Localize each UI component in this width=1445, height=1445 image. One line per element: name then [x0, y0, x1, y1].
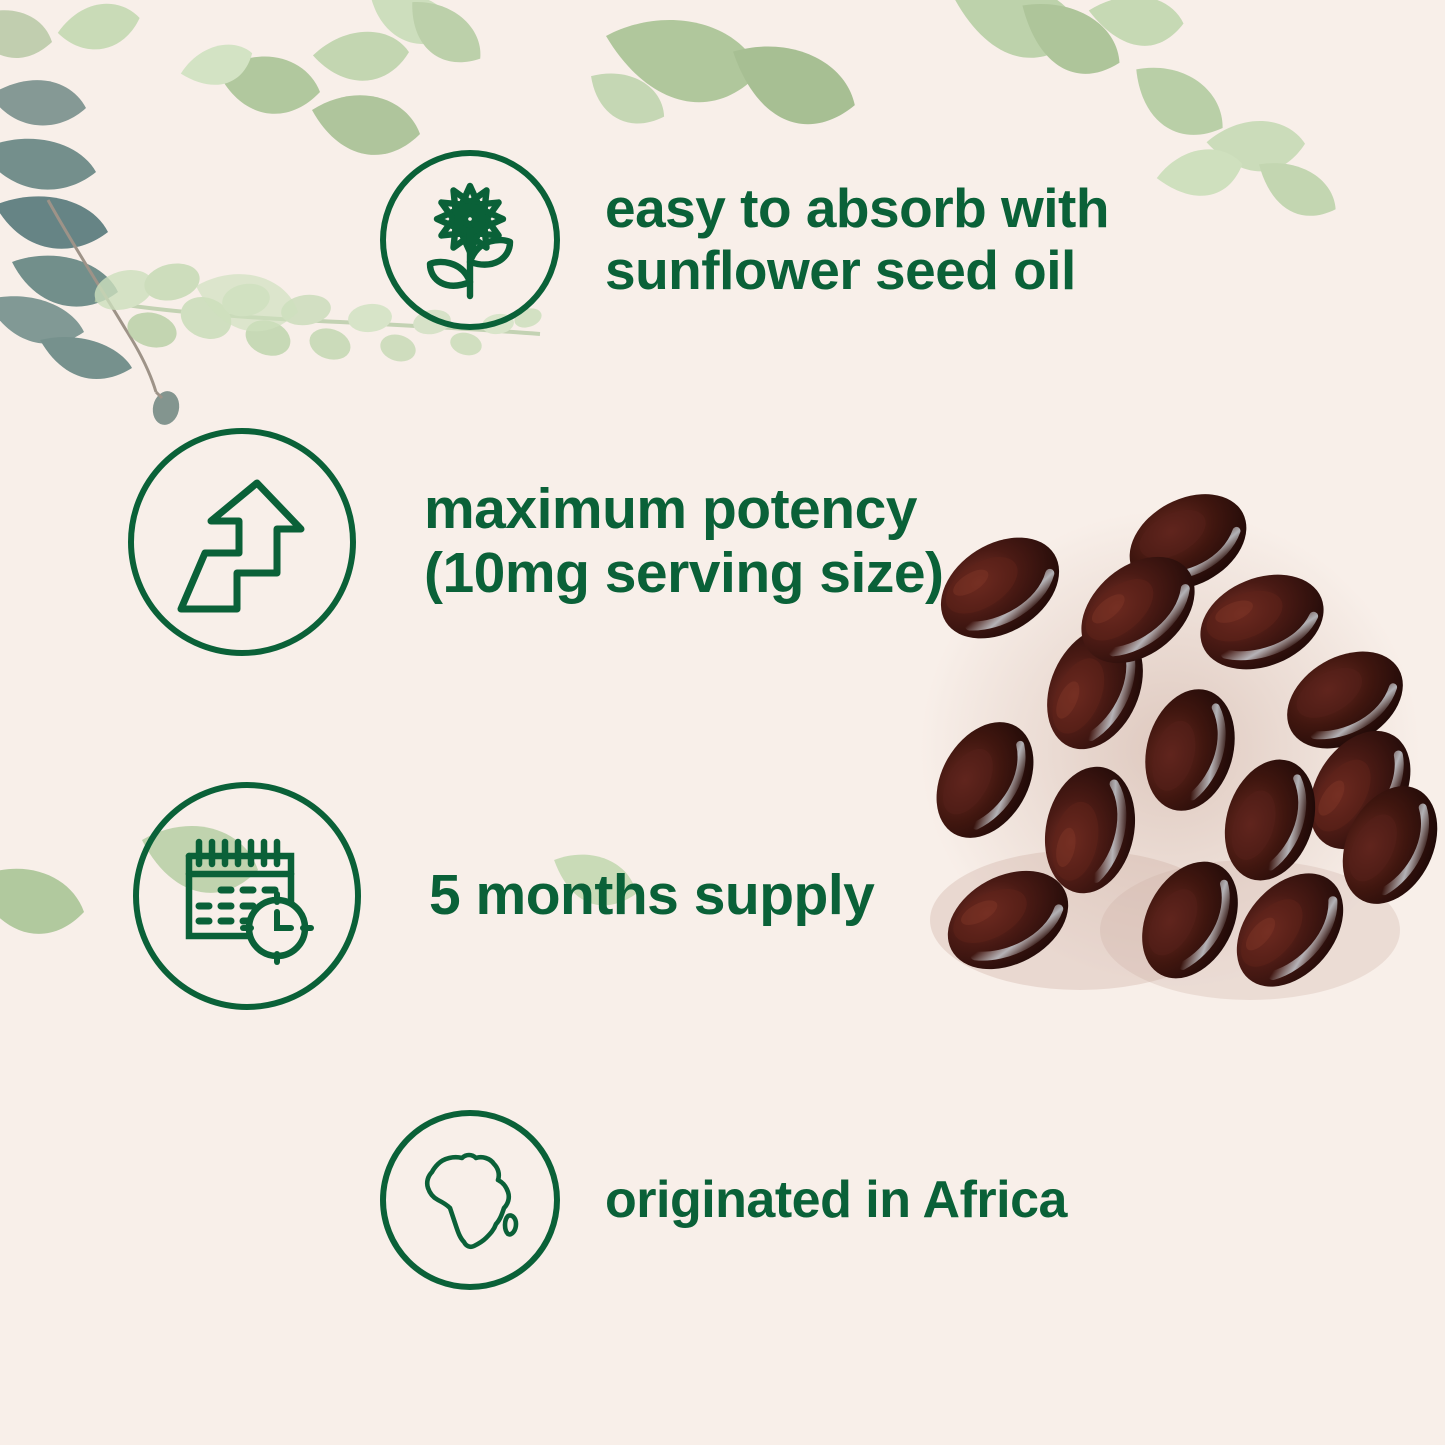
upward-step-arrow-icon: [161, 461, 323, 623]
africa-map-icon-circle: [380, 1110, 560, 1290]
calendar-clock-icon-circle: [133, 782, 361, 1010]
feature-label: originated in Africa: [605, 1171, 1067, 1229]
upward-step-arrow-icon-circle: [128, 428, 356, 656]
feature-row-easy-to-absorb: easy to absorb with sunflower seed oil: [380, 150, 1109, 330]
feature-row-originated-in-africa: originated in Africa: [380, 1110, 1067, 1290]
calendar-clock-icon: [167, 816, 327, 976]
feature-label: 5 months supply: [429, 864, 874, 928]
sunflower-icon-circle: [380, 150, 560, 330]
infographic-canvas: easy to absorb with sunflower seed oil m…: [0, 0, 1445, 1445]
feature-row-maximum-potency: maximum potency (10mg serving size): [128, 428, 944, 656]
softgel-capsules-cluster: [890, 450, 1445, 1020]
sunflower-icon: [406, 176, 534, 304]
feature-label: maximum potency (10mg serving size): [424, 478, 944, 606]
africa-map-icon: [408, 1138, 532, 1262]
feature-row-months-supply: 5 months supply: [133, 782, 874, 1010]
feature-label: easy to absorb with sunflower seed oil: [605, 178, 1109, 301]
